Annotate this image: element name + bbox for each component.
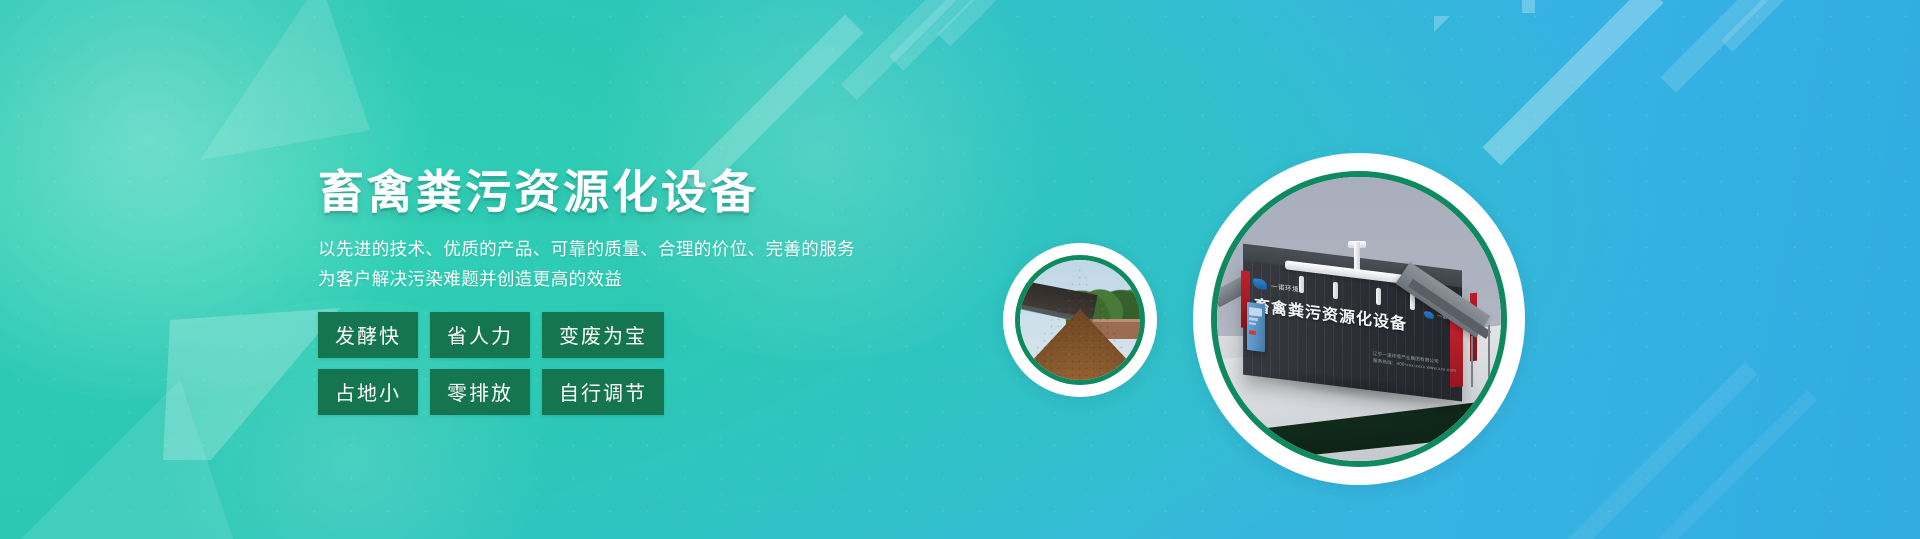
compost-circle-image	[1020, 260, 1140, 380]
feature-tag-bianfeiweibao[interactable]: 变废为宝	[542, 312, 664, 358]
diagonal-stripe-7	[1721, 0, 1895, 52]
equipment-render-circle[interactable]: 一诺环境 畜禽粪污资源化设备 一诺环境 辽宁一诺环境产业集团有限公司 服务热线：…	[1193, 153, 1525, 485]
diagonal-stripe-9	[1637, 390, 1817, 539]
feature-tag-fajiaokuai[interactable]: 发酵快	[318, 312, 418, 358]
background-noise-texture	[0, 0, 1920, 539]
render-right-conveyor-leg-1	[1471, 336, 1473, 387]
brand-mark-icon	[1253, 278, 1267, 290]
brand-mark-icon-right	[1424, 311, 1434, 319]
cabinet-display-panel	[1249, 307, 1262, 316]
banner-subtitle: 以先进的技术、优质的产品、可靠的质量、合理的价位、完善的服务 为客户解决污染难题…	[318, 234, 938, 294]
triangle-accent-top	[1434, 16, 1450, 32]
render-control-cabinet	[1247, 302, 1265, 352]
compost-photo-circle[interactable]	[1003, 243, 1157, 397]
feature-tag-row-2: 占地小 零排放 自行调节	[318, 369, 938, 415]
promo-banner: 畜禽粪污资源化设备 以先进的技术、优质的产品、可靠的质量、合理的价位、完善的服务…	[0, 0, 1920, 539]
feature-tag-group: 发酵快 省人力 变废为宝 占地小 零排放 自行调节	[318, 312, 938, 415]
cabinet-buttons-row-1	[1249, 318, 1257, 321]
triangle-accent-topleft	[180, 0, 440, 180]
diagonal-stripe-2	[841, 0, 991, 100]
feature-tag-lingpaifang[interactable]: 零排放	[430, 369, 530, 415]
feature-tag-zixingtiaojie[interactable]: 自行调节	[542, 369, 664, 415]
diagonal-stripe-3	[889, 0, 1030, 71]
cabinet-buttons-row-2	[1249, 323, 1255, 326]
feature-tag-row-1: 发酵快 省人力 变废为宝	[318, 312, 938, 358]
render-pipe-drop-1	[1299, 276, 1304, 294]
feature-tag-shengrenli[interactable]: 省人力	[430, 312, 530, 358]
render-pipe-drop-3	[1376, 287, 1381, 305]
subtitle-line-1: 以先进的技术、优质的产品、可靠的质量、合理的价位、完善的服务	[318, 234, 938, 264]
compost-circle-green-ring	[1015, 255, 1145, 385]
subtitle-line-2: 为客户解决污染难题并创造更高的效益	[318, 264, 938, 294]
diagonal-stripe-8	[1561, 362, 1758, 539]
page-title: 畜禽粪污资源化设备	[318, 168, 938, 218]
diagonal-stripe-5	[1482, 0, 1663, 166]
equipment-circle-green-ring: 一诺环境 畜禽粪污资源化设备 一诺环境 辽宁一诺环境产业集团有限公司 服务热线：…	[1211, 171, 1507, 467]
render-pipe-drop-2	[1333, 282, 1338, 300]
triangle-accent-bottomleft	[0, 340, 300, 539]
render-right-conveyor-leg-2	[1488, 325, 1490, 382]
diagonal-stripe-6	[1660, 0, 1845, 93]
diagonal-stripe-4	[938, 0, 1071, 46]
cabinet-emergency-stop	[1249, 331, 1256, 336]
equipment-circle-image: 一诺环境 畜禽粪污资源化设备 一诺环境 辽宁一诺环境产业集团有限公司 服务热线：…	[1217, 177, 1501, 461]
banner-copy: 畜禽粪污资源化设备 以先进的技术、优质的产品、可靠的质量、合理的价位、完善的服务…	[318, 168, 938, 426]
square-accent-top	[1522, 0, 1535, 13]
feature-tag-zhandixiao[interactable]: 占地小	[318, 369, 418, 415]
